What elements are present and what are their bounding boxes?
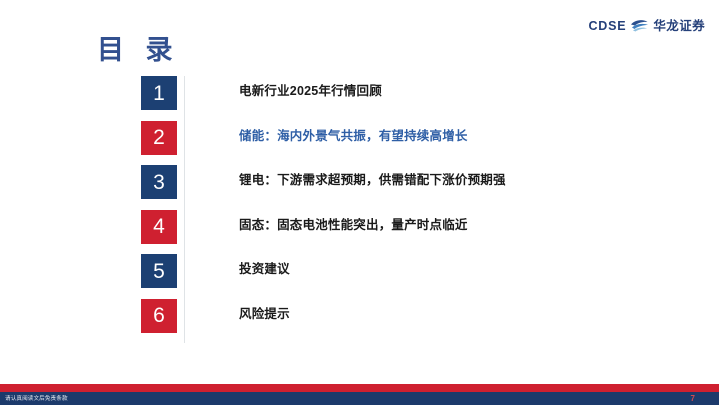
toc-number-badge: 5 — [141, 254, 177, 288]
toc-number-badge: 2 — [141, 121, 177, 155]
toc-item-1[interactable]: 1 电新行业2025年行情回顾 — [141, 76, 661, 121]
toc-divider — [184, 121, 185, 166]
footer-disclaimer: 请认真阅读文后免责条款 — [5, 393, 68, 405]
toc-item-6[interactable]: 6 风险提示 — [141, 299, 661, 344]
slide-footer: 请认真阅读文后免责条款 7 — [0, 384, 719, 405]
toc-divider — [184, 210, 185, 255]
toc-item-5[interactable]: 5 投资建议 — [141, 254, 661, 299]
toc-number-badge: 6 — [141, 299, 177, 333]
toc-divider — [184, 76, 185, 121]
table-of-contents: 1 电新行业2025年行情回顾 2 储能：海内外景气共振，有望持续高增长 3 锂… — [141, 76, 661, 343]
toc-divider — [184, 165, 185, 210]
toc-item-3[interactable]: 3 锂电：下游需求超预期，供需错配下涨价预期强 — [141, 165, 661, 210]
slide-canvas: CDSE 华龙证券 目 录 1 电新行业2025年行情回顾 2 储能：海内外景气… — [0, 0, 719, 405]
toc-item-label: 投资建议 — [239, 262, 290, 277]
toc-item-label: 电新行业2025年行情回顾 — [239, 84, 382, 99]
toc-item-2[interactable]: 2 储能：海内外景气共振，有望持续高增长 — [141, 121, 661, 166]
toc-divider — [184, 299, 185, 344]
toc-number-badge: 3 — [141, 165, 177, 199]
toc-number-badge: 4 — [141, 210, 177, 244]
toc-item-4[interactable]: 4 固态：固态电池性能突出，量产时点临近 — [141, 210, 661, 255]
company-logo: CDSE 华龙证券 — [588, 17, 705, 35]
footer-red-band — [0, 384, 719, 392]
swoosh-globe-icon — [630, 18, 649, 34]
toc-item-label: 锂电：下游需求超预期，供需错配下涨价预期强 — [239, 173, 506, 188]
toc-divider — [184, 254, 185, 299]
logo-latin-text: CDSE — [588, 20, 626, 33]
page-title: 目 录 — [97, 36, 180, 66]
toc-number-badge: 1 — [141, 76, 177, 110]
logo-chinese-text: 华龙证券 — [653, 20, 705, 33]
page-number: 7 — [691, 392, 695, 405]
toc-item-label: 储能：海内外景气共振，有望持续高增长 — [239, 129, 468, 144]
toc-item-label: 固态：固态电池性能突出，量产时点临近 — [239, 218, 468, 233]
footer-navy-band — [0, 392, 719, 405]
toc-item-label: 风险提示 — [239, 307, 290, 322]
